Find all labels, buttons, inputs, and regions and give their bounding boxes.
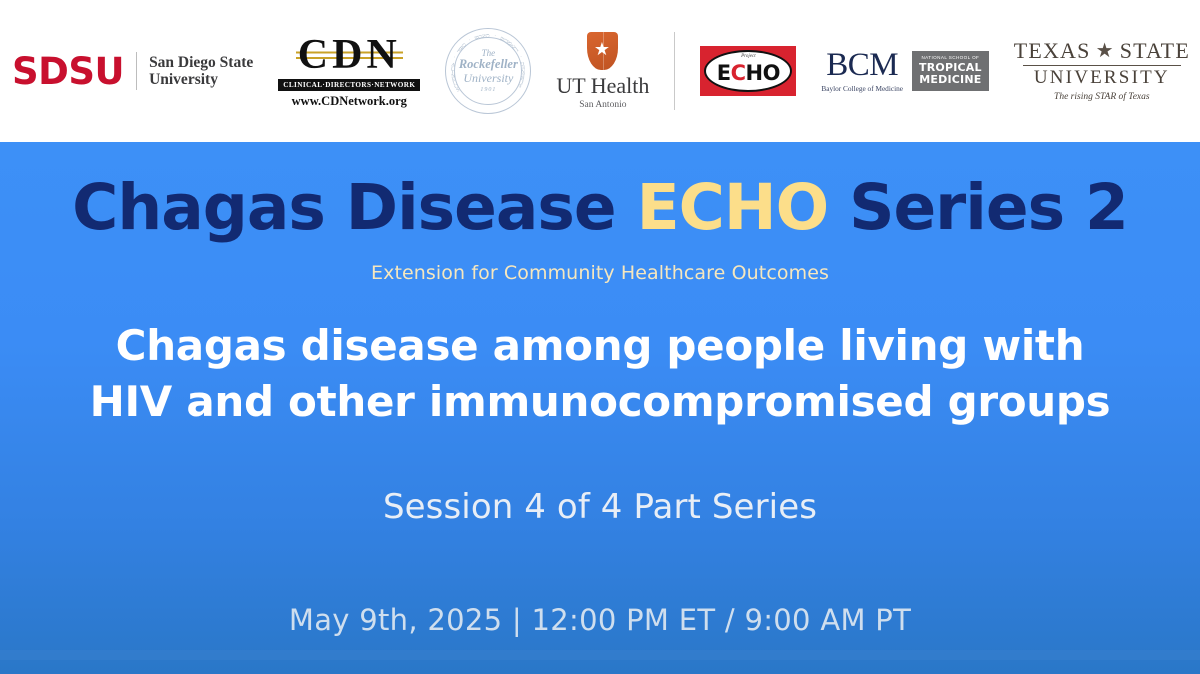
ut-health-name: UT Health [556,75,649,97]
logo-cdn: CDN CLINICAL·DIRECTORS·NETWORK www.CDNet… [278,34,420,108]
sdsu-wordmark: SDSU [12,53,124,90]
texas-state-word-right: STATE [1120,40,1190,62]
cdn-url: www.CDNetwork.org [292,95,407,108]
project-echo-oval: Project ECHO [704,50,792,92]
session-title: Chagas disease among people living with … [0,318,1200,430]
partner-logo-bar: SDSU San Diego State University CDN CLIN… [0,0,1200,142]
bcm-tropical-medicine-box: NATIONAL SCHOOL OF TROPICAL MEDICINE [912,51,989,92]
bcm-letters: BCM [826,49,898,82]
cdn-tagline-bar: CLINICAL·DIRECTORS·NETWORK [278,79,420,91]
headline-echo-word: ECHO [637,171,829,244]
cdn-letters-text: CDN [298,32,401,78]
sdsu-name-line1: San Diego State [149,54,253,71]
logo-ut-health-san-antonio: UT Health San Antonio [556,32,649,110]
echo-expansion-text: Extension for Community Healthcare Outco… [0,262,1200,284]
session-title-line2: HIV and other immunocompromised groups [0,374,1200,430]
logo-divider [674,32,675,110]
logo-texas-state-university: TEXAS ★ STATE UNIVERSITY The rising STAR… [1014,40,1190,102]
texas-state-university-word: UNIVERSITY [1034,68,1170,87]
texas-state-star-icon: ★ [1096,41,1115,61]
session-datetime: May 9th, 2025 | 12:00 PM ET / 9:00 AM PT [0,603,1200,637]
logo-project-echo: Project ECHO [700,46,796,96]
session-title-line1: Chagas disease among people living with [0,318,1200,374]
bottom-compression-band [0,650,1200,660]
slide-body: Chagas Disease ECHO Series 2 Extension f… [0,142,1200,674]
texas-state-word-left: TEXAS [1014,40,1091,62]
rockefeller-university-word: University [463,72,513,85]
series-headline: Chagas Disease ECHO Series 2 [0,176,1200,239]
bcm-box-top-line: NATIONAL SCHOOL OF [919,56,982,61]
rockefeller-name: Rockefeller [459,58,518,72]
project-echo-wordmark: ECHO [717,63,780,84]
headline-part2: Series 2 [828,171,1128,244]
project-echo-project-label: Project [741,54,756,59]
ut-health-campus: San Antonio [579,100,626,110]
headline-part1: Chagas Disease [72,171,636,244]
logo-baylor-college-of-medicine: BCM Baylor College of Medicine NATIONAL … [821,49,988,93]
sdsu-name: San Diego State University [149,54,253,89]
bcm-box-line2: MEDICINE [919,74,982,86]
session-sequence-label: Session 4 of 4 Part Series [0,487,1200,527]
project-echo-box: Project ECHO [700,46,796,96]
rockefeller-year: 1901 [480,87,496,93]
texas-state-tagline: The rising STAR of Texas [1054,92,1150,102]
bcm-full-name: Baylor College of Medicine [821,84,903,93]
texas-state-top-row: TEXAS ★ STATE [1014,40,1190,62]
logo-rockefeller-university: SCIENTIA · PRO · BONO · HUMANI · GENERIS… [445,28,531,114]
sdsu-name-line2: University [149,71,218,88]
ut-health-shield-icon [587,32,618,70]
cdn-wordmark: CDN [296,34,403,76]
bcm-wordmark-block: BCM Baylor College of Medicine [821,49,903,93]
webinar-title-slide: SDSU San Diego State University CDN CLIN… [0,0,1200,674]
rockefeller-center-text: The Rockefeller University 1901 [459,42,517,100]
sdsu-divider [136,52,137,90]
logo-sdsu: SDSU San Diego State University [12,52,253,90]
texas-state-rule [1023,65,1181,66]
